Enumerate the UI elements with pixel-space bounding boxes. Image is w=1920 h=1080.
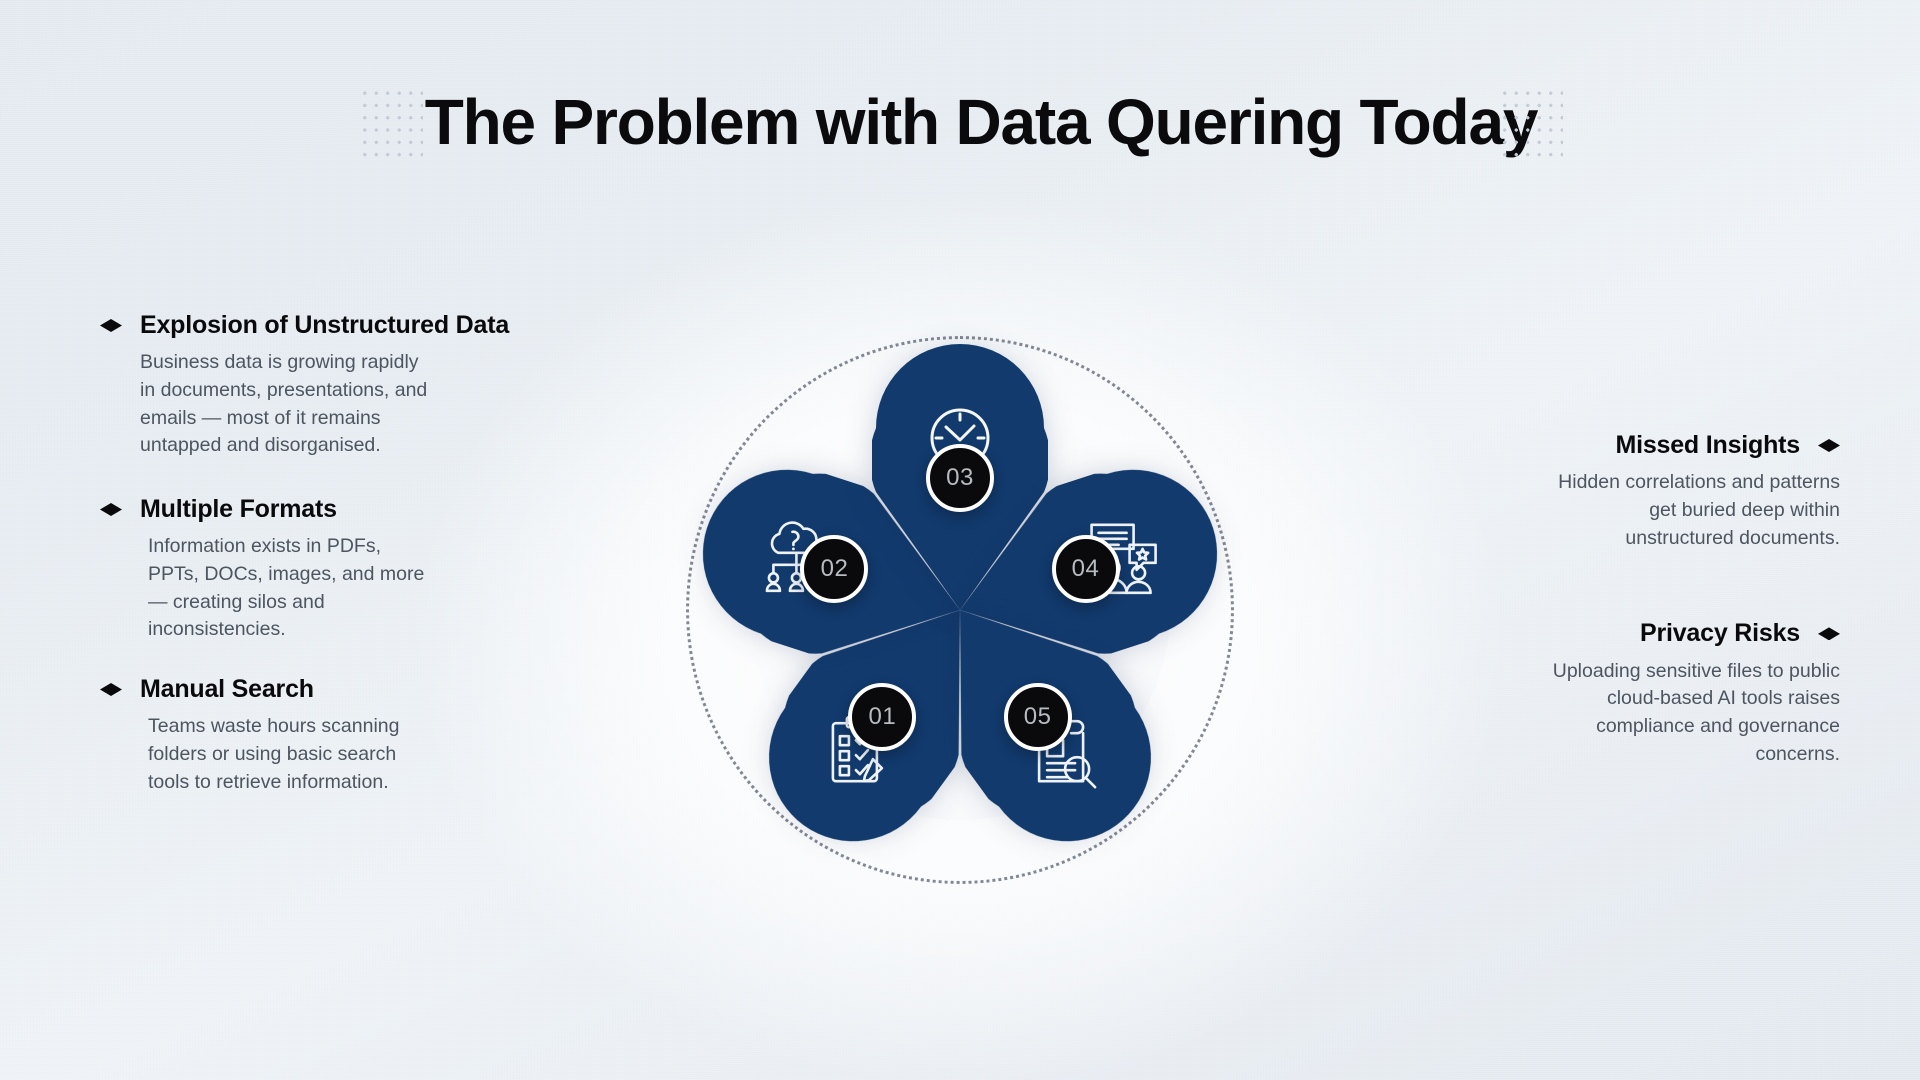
feature-description: Business data is growing rapidly in docu…: [100, 349, 430, 460]
step-number: 05: [1024, 703, 1052, 731]
feature-description: Teams waste hours scanning folders or us…: [100, 713, 430, 796]
step-badge-01[interactable]: 01: [848, 683, 916, 751]
feature-title: Explosion of Unstructured Data: [140, 310, 509, 341]
feature-description: Uploading sensitive files to public clou…: [1540, 658, 1840, 769]
diamond-bullet-icon: [1818, 439, 1840, 452]
diamond-bullet-icon: [1818, 627, 1840, 640]
step-number: 01: [869, 703, 897, 731]
feature-item-manual-search: Manual Search Teams waste hours scanning…: [100, 674, 520, 796]
feature-title: Multiple Formats: [140, 494, 337, 525]
right-feature-column: Missed Insights Hidden correlations and …: [1420, 430, 1840, 798]
left-feature-column: Explosion of Unstructured Data Business …: [100, 310, 520, 826]
step-number: 03: [946, 464, 974, 492]
feature-title: Manual Search: [140, 674, 314, 705]
feature-title: Missed Insights: [1615, 430, 1800, 461]
feature-item-explosion-of-unstructured-data: Explosion of Unstructured Data Business …: [100, 310, 520, 460]
diamond-bullet-icon: [100, 503, 122, 516]
step-badge-05[interactable]: 05: [1004, 683, 1072, 751]
slide-canvas: The Problem with Data Quering Today Expl…: [0, 0, 1920, 1080]
diamond-bullet-icon: [100, 683, 122, 696]
step-number: 04: [1072, 555, 1100, 583]
feature-item-privacy-risks: Privacy Risks Uploading sensitive files …: [1420, 618, 1840, 768]
page-title: The Problem with Data Quering Today: [419, 90, 1544, 154]
step-badge-04[interactable]: 04: [1052, 535, 1120, 603]
diamond-bullet-icon: [100, 319, 122, 332]
step-badge-03[interactable]: 03: [926, 444, 994, 512]
feature-item-multiple-formats: Multiple Formats Information exists in P…: [100, 494, 520, 644]
step-number: 02: [821, 555, 849, 583]
feature-heading: Explosion of Unstructured Data: [100, 310, 520, 341]
dot-grid-decoration-left-icon: [357, 85, 423, 159]
feature-item-missed-insights: Missed Insights Hidden correlations and …: [1420, 430, 1840, 552]
dot-grid-decoration-right-icon: [1497, 85, 1563, 159]
feature-heading: Privacy Risks: [1420, 618, 1840, 649]
feature-description: Information exists in PDFs, PPTs, DOCs, …: [100, 533, 430, 644]
feature-heading: Manual Search: [100, 674, 520, 705]
feature-heading: Missed Insights: [1420, 430, 1840, 461]
feature-heading: Multiple Formats: [100, 494, 520, 525]
feature-title: Privacy Risks: [1640, 618, 1800, 649]
feature-description: Hidden correlations and patterns get bur…: [1540, 469, 1840, 552]
radial-petal-diagram: 0102030405: [600, 250, 1320, 970]
title-row: The Problem with Data Quering Today: [0, 85, 1920, 159]
